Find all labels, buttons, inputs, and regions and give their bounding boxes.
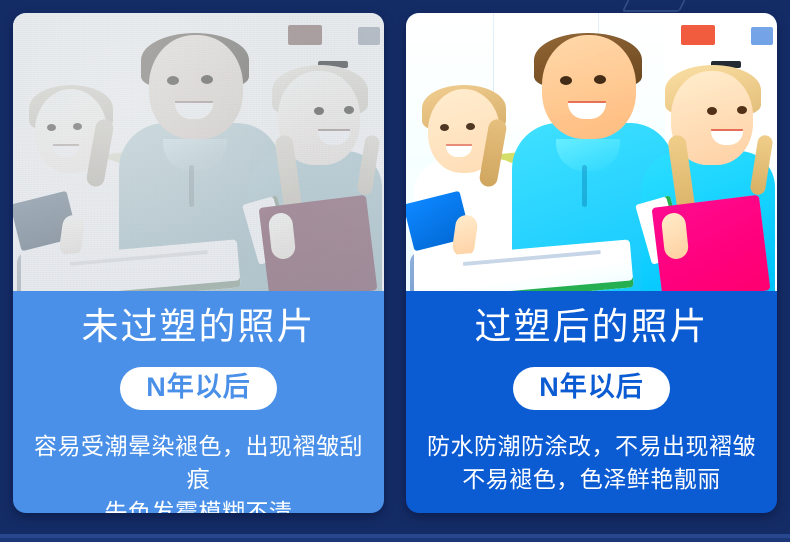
child-eye [167, 76, 179, 85]
side-table [316, 247, 384, 291]
shelf-book [288, 25, 322, 45]
child-head [278, 71, 360, 165]
footer-band-shadow [0, 538, 790, 542]
photo-after-vivid [406, 13, 777, 291]
shelf-divider [276, 117, 384, 122]
child-right [242, 55, 382, 291]
description-line: 容易受潮晕染褪色，出现褶皱刮痕 [27, 430, 370, 495]
cushion-yellow [227, 157, 345, 291]
panel-description: 防水防潮防涂改，不易出现褶皱 不易褪色，色泽鲜艳靓丽 [414, 430, 769, 495]
child-center [119, 29, 285, 291]
shelf-divider [324, 21, 329, 189]
child-eye [440, 124, 449, 131]
sofa [13, 169, 384, 291]
child-hair [29, 85, 113, 131]
photo-scene [406, 13, 777, 291]
thumbs-up-hand [58, 214, 86, 259]
blue-book [13, 191, 78, 252]
comparison-banner: 未过塑的照片 N年以后 容易受潮晕染褪色，出现褶皱刮痕 失色发霉模糊不清 [0, 0, 790, 542]
book-pages [242, 195, 294, 265]
open-book [61, 239, 241, 291]
time-badge: N年以后 [120, 367, 277, 410]
child-mouth [53, 146, 79, 157]
panel-title: 过塑后的照片 [414, 307, 769, 347]
panel-title: 未过塑的照片 [21, 307, 376, 347]
child-eye [73, 123, 82, 130]
description-line: 不易褪色，色泽鲜艳靓丽 [420, 463, 763, 496]
pink-book [259, 195, 378, 291]
child-eye [344, 106, 354, 114]
time-badge: N年以后 [513, 367, 670, 410]
child-eye [314, 107, 324, 115]
cushion-white [52, 157, 145, 257]
shelf-divider [669, 47, 777, 52]
child-eye [201, 75, 213, 84]
shelf-divider [276, 47, 384, 52]
room-wall [13, 13, 384, 291]
cushion-olive [85, 146, 192, 267]
shelf-object [318, 61, 348, 68]
decorative-wedge-icon [622, 0, 693, 12]
child-mouth [175, 103, 213, 119]
panel-description: 容易受潮晕染褪色，出现褶皱刮痕 失色发霉模糊不清 [21, 430, 376, 513]
child-placket [582, 165, 587, 207]
child-jeans [17, 251, 87, 291]
child-eye [560, 76, 572, 85]
photo-grain-overlay [13, 13, 384, 291]
child-left [17, 61, 137, 291]
room-window [101, 13, 205, 155]
child-torso [248, 151, 382, 291]
child-collar [163, 139, 227, 171]
child-braid [85, 118, 115, 188]
description-line: 失色发霉模糊不清 [27, 496, 370, 513]
description-line: 防水防潮防涂改，不易出现褶皱 [420, 430, 763, 463]
child-torso [21, 159, 133, 291]
panel-after[interactable]: 过塑后的照片 N年以后 防水防潮防涂改，不易出现褶皱 不易褪色，色泽鲜艳靓丽 [406, 13, 777, 513]
child-head [35, 89, 107, 173]
thumbs-up-hand [268, 212, 297, 260]
child-torso [119, 123, 281, 291]
caption-before: 未过塑的照片 N年以后 容易受潮晕染褪色，出现褶皱刮痕 失色发霉模糊不清 [13, 291, 384, 513]
child-hair [272, 65, 368, 115]
child-eye [47, 124, 56, 131]
child-eye [466, 123, 475, 130]
child-eye [737, 106, 747, 114]
child-right [635, 55, 775, 291]
child-head [149, 35, 243, 139]
photo-scene [13, 13, 384, 291]
child-head [542, 35, 636, 139]
child-placket [189, 165, 194, 207]
shelf-book [358, 27, 380, 45]
panel-before[interactable]: 未过塑的照片 N年以后 容易受潮晕染褪色，出现褶皱刮痕 失色发霉模糊不清 [13, 13, 384, 513]
shelf-book [681, 25, 715, 45]
child-braid [356, 134, 380, 196]
room-shelf [272, 17, 384, 193]
caption-after: 过塑后的照片 N年以后 防水防潮防涂改，不易出现褶皱 不易褪色，色泽鲜艳靓丽 [406, 291, 777, 496]
child-hand [257, 167, 294, 225]
child-hair [141, 33, 249, 87]
photo-before-faded [13, 13, 384, 291]
child-eye [707, 107, 717, 115]
child-eye [594, 75, 606, 84]
child-mouth [318, 131, 350, 145]
shelf-book [751, 27, 773, 45]
child-braid [274, 134, 304, 222]
